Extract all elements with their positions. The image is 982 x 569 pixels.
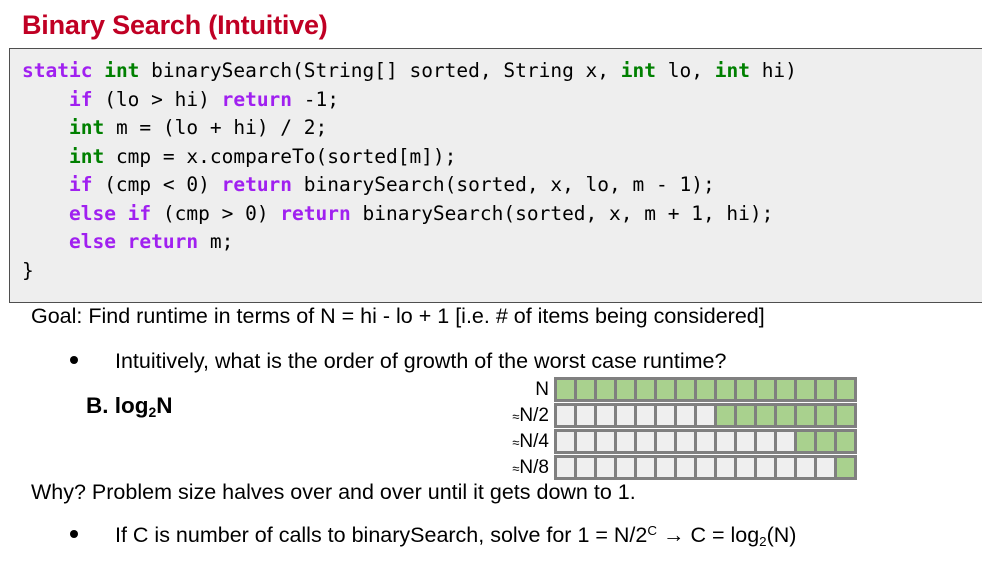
- code-token: -1;: [292, 88, 339, 111]
- diagram-cell-active: [836, 457, 855, 478]
- diagram-cell-inactive: [716, 457, 735, 478]
- code-line: }: [22, 259, 34, 282]
- diagram-cell-inactive: [736, 457, 755, 478]
- diagram-cell-strip: [554, 455, 857, 480]
- code-token: }: [22, 259, 34, 282]
- code-token: return: [280, 202, 350, 225]
- bullet-item-derivation: If C is number of calls to binarySearch,…: [70, 524, 796, 548]
- diagram-cell-inactive: [696, 457, 715, 478]
- diagram-cell-active: [756, 405, 775, 426]
- approx-symbol: ≈: [512, 435, 519, 450]
- diagram-row: N: [502, 377, 880, 402]
- diagram-cell-inactive: [776, 431, 795, 452]
- bullet-dot-icon: [70, 530, 78, 538]
- code-token: binarySearch(String[] sorted, String x,: [139, 59, 620, 82]
- code-token: else return: [69, 230, 198, 253]
- code-block: static int binarySearch(String[] sorted,…: [9, 48, 982, 303]
- code-token: return: [222, 173, 292, 196]
- code-line: int m = (lo + hi) / 2;: [22, 116, 327, 139]
- code-token: static: [22, 59, 92, 82]
- code-token: [22, 173, 69, 196]
- diagram-cell-active: [576, 379, 595, 400]
- page-title: Binary Search (Intuitive): [22, 10, 328, 41]
- diagram-cell-inactive: [676, 457, 695, 478]
- code-token: [22, 116, 69, 139]
- diagram-cell-active: [816, 379, 835, 400]
- diagram-cell-active: [716, 379, 735, 400]
- code-token: [22, 88, 69, 111]
- diagram-cell-inactive: [596, 431, 615, 452]
- code-line: if (lo > hi) return -1;: [22, 88, 339, 111]
- code-token: m = (lo + hi) / 2;: [104, 116, 327, 139]
- derivation-subscript: 2: [759, 534, 766, 549]
- answer-subscript: 2: [149, 404, 157, 420]
- goal-text: Goal: Find runtime in terms of N = hi - …: [31, 305, 765, 329]
- code-token: if: [69, 173, 92, 196]
- code-token: [22, 230, 69, 253]
- diagram-cell-active: [776, 405, 795, 426]
- code-token: else if: [69, 202, 151, 225]
- diagram-cell-active: [836, 405, 855, 426]
- diagram-cell-active: [796, 405, 815, 426]
- diagram-cell-active: [736, 379, 755, 400]
- diagram-cell-inactive: [756, 457, 775, 478]
- diagram-row-label: ≈N/4: [502, 432, 554, 451]
- diagram-cell-inactive: [596, 405, 615, 426]
- diagram-cell-inactive: [736, 431, 755, 452]
- code-line: else if (cmp > 0) return binarySearch(so…: [22, 202, 773, 225]
- code-line: static int binarySearch(String[] sorted,…: [22, 59, 797, 82]
- answer-suffix: N: [156, 393, 172, 418]
- diagram-row: ≈N/2: [502, 403, 880, 428]
- derivation-part-2: → C = log: [657, 523, 759, 547]
- diagram-cell-active: [596, 379, 615, 400]
- diagram-cell-inactive: [656, 431, 675, 452]
- derivation-part-1: If C is number of calls to binarySearch,…: [115, 523, 647, 547]
- approx-symbol: ≈: [512, 461, 519, 476]
- diagram-cell-inactive: [656, 457, 675, 478]
- diagram-cell-inactive: [636, 405, 655, 426]
- diagram-cell-active: [616, 379, 635, 400]
- diagram-cell-inactive: [636, 457, 655, 478]
- diagram-cell-inactive: [556, 405, 575, 426]
- code-token: if: [69, 88, 92, 111]
- diagram-cell-inactive: [696, 431, 715, 452]
- code-token: return: [222, 88, 292, 111]
- diagram-cell-inactive: [716, 431, 735, 452]
- diagram-cell-active: [756, 379, 775, 400]
- answer-prefix: B. log: [86, 393, 149, 418]
- diagram-cell-inactive: [756, 431, 775, 452]
- code-token: [22, 145, 69, 168]
- code-token: (cmp > 0): [151, 202, 280, 225]
- code-token: [22, 202, 69, 225]
- halving-diagram: N≈N/2≈N/4≈N/8: [502, 377, 880, 480]
- diagram-cell-inactive: [676, 405, 695, 426]
- code-token: cmp = x.compareTo(sorted[m]);: [104, 145, 456, 168]
- diagram-cell-inactive: [636, 431, 655, 452]
- derivation-exponent: C: [647, 523, 657, 538]
- answer-choice: B. log2N: [86, 393, 173, 419]
- code-token: [92, 59, 104, 82]
- diagram-cell-strip: [554, 377, 857, 402]
- code-line: else return m;: [22, 230, 233, 253]
- code-content: static int binarySearch(String[] sorted,…: [22, 57, 982, 285]
- why-text: Why? Problem size halves over and over u…: [31, 481, 636, 505]
- diagram-cell-inactive: [576, 405, 595, 426]
- diagram-cell-active: [796, 431, 815, 452]
- diagram-cell-inactive: [616, 405, 635, 426]
- bullet-dot-icon: [70, 356, 78, 364]
- code-token: int: [69, 145, 104, 168]
- diagram-cell-active: [836, 431, 855, 452]
- diagram-cell-active: [716, 405, 735, 426]
- diagram-cell-inactive: [556, 457, 575, 478]
- code-token: int: [621, 59, 656, 82]
- diagram-cell-inactive: [776, 457, 795, 478]
- diagram-cell-inactive: [576, 431, 595, 452]
- code-line: if (cmp < 0) return binarySearch(sorted,…: [22, 173, 715, 196]
- diagram-cell-active: [836, 379, 855, 400]
- derivation-part-3: (N): [767, 523, 797, 547]
- bullet-item-question-label: Intuitively, what is the order of growth…: [115, 350, 726, 374]
- diagram-row-label: ≈N/2: [502, 406, 554, 425]
- diagram-cell-active: [656, 379, 675, 400]
- approx-symbol: ≈: [512, 409, 519, 424]
- code-token: binarySearch(sorted, x, lo, m - 1);: [292, 173, 715, 196]
- bullet-item-question: Intuitively, what is the order of growth…: [70, 350, 726, 374]
- diagram-row: ≈N/8: [502, 455, 880, 480]
- diagram-cell-active: [796, 379, 815, 400]
- diagram-row: ≈N/4: [502, 429, 880, 454]
- bullet-item-derivation-label: If C is number of calls to binarySearch,…: [115, 524, 796, 548]
- diagram-cell-inactive: [796, 457, 815, 478]
- diagram-cell-inactive: [616, 431, 635, 452]
- diagram-cell-inactive: [616, 457, 635, 478]
- code-token: m;: [198, 230, 233, 253]
- code-token: int: [104, 59, 139, 82]
- code-token: int: [69, 116, 104, 139]
- diagram-cell-inactive: [656, 405, 675, 426]
- diagram-cell-active: [556, 379, 575, 400]
- code-token: (cmp < 0): [92, 173, 221, 196]
- diagram-row-label: N: [502, 380, 554, 399]
- diagram-cell-inactive: [576, 457, 595, 478]
- diagram-cell-active: [816, 405, 835, 426]
- code-token: lo,: [656, 59, 715, 82]
- code-token: hi): [750, 59, 797, 82]
- diagram-cell-active: [816, 431, 835, 452]
- code-line: int cmp = x.compareTo(sorted[m]);: [22, 145, 456, 168]
- code-token: int: [715, 59, 750, 82]
- diagram-cell-inactive: [556, 431, 575, 452]
- diagram-cell-strip: [554, 403, 857, 428]
- diagram-cell-inactive: [676, 431, 695, 452]
- diagram-cell-active: [636, 379, 655, 400]
- diagram-row-label: ≈N/8: [502, 458, 554, 477]
- diagram-cell-active: [776, 379, 795, 400]
- diagram-cell-inactive: [816, 457, 835, 478]
- diagram-cell-active: [676, 379, 695, 400]
- diagram-cell-active: [696, 379, 715, 400]
- diagram-cell-active: [736, 405, 755, 426]
- code-token: binarySearch(sorted, x, m + 1, hi);: [351, 202, 774, 225]
- diagram-cell-inactive: [596, 457, 615, 478]
- diagram-cell-strip: [554, 429, 857, 454]
- code-token: (lo > hi): [92, 88, 221, 111]
- diagram-cell-inactive: [696, 405, 715, 426]
